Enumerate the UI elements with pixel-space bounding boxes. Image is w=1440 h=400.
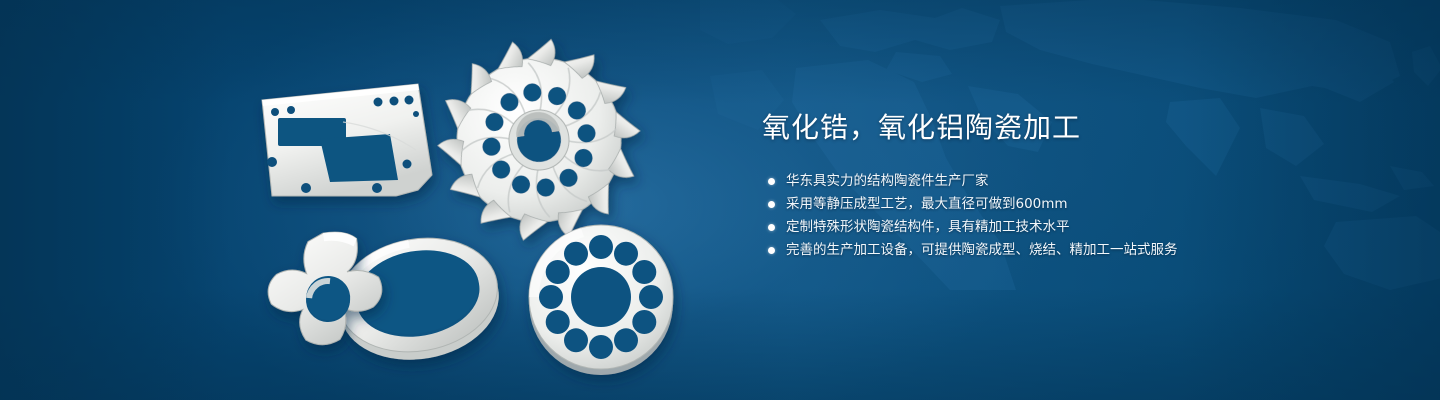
bullet-dot-icon — [768, 201, 775, 208]
list-item-label: 华东具实力的结构陶瓷件生产厂家 — [786, 170, 989, 193]
ceramic-plate-part — [262, 84, 432, 196]
page-title: 氧化锆，氧化铝陶瓷加工 — [762, 108, 1302, 148]
ceramic-products-image — [0, 0, 760, 400]
list-item-label: 定制特殊形状陶瓷结构件，具有精加工技术水平 — [786, 216, 1070, 239]
ceramic-perforated-disc-part — [529, 225, 673, 375]
feature-list: 华东具实力的结构陶瓷件生产厂家 采用等静压成型工艺，最大直径可做到600mm 定… — [762, 170, 1302, 262]
banner-text-column: 氧化锆，氧化铝陶瓷加工 华东具实力的结构陶瓷件生产厂家 采用等静压成型工艺，最大… — [762, 108, 1302, 262]
bullet-dot-icon — [768, 247, 775, 254]
ceramic-vaned-impeller-part — [424, 25, 653, 254]
list-item: 采用等静压成型工艺，最大直径可做到600mm — [768, 193, 1302, 216]
bullet-dot-icon — [768, 224, 775, 231]
list-item-label: 完善的生产加工设备，可提供陶瓷成型、烧结、精加工一站式服务 — [786, 239, 1178, 262]
list-item-label: 采用等静压成型工艺，最大直径可做到600mm — [786, 193, 1068, 216]
list-item: 定制特殊形状陶瓷结构件，具有精加工技术水平 — [768, 216, 1302, 239]
bullet-dot-icon — [768, 178, 775, 185]
promo-banner: 氧化锆，氧化铝陶瓷加工 华东具实力的结构陶瓷件生产厂家 采用等静压成型工艺，最大… — [0, 0, 1440, 400]
list-item: 华东具实力的结构陶瓷件生产厂家 — [768, 170, 1302, 193]
list-item: 完善的生产加工设备，可提供陶瓷成型、烧结、精加工一站式服务 — [768, 239, 1302, 262]
